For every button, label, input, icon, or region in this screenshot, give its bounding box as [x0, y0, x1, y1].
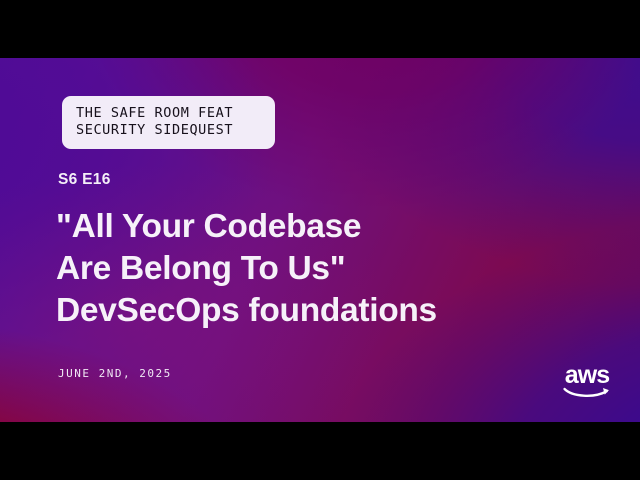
aws-wordmark: aws — [561, 364, 613, 387]
air-date-label: JUNE 2ND, 2025 — [58, 367, 172, 380]
show-title-badge: THE SAFE ROOM FEAT SECURITY SIDEQUEST — [62, 96, 275, 149]
show-badge-line-1: THE SAFE ROOM FEAT — [76, 105, 261, 122]
title-card-slide: THE SAFE ROOM FEAT SECURITY SIDEQUEST S6… — [0, 58, 640, 422]
aws-logo: aws — [561, 364, 613, 398]
episode-title-line-3: DevSecOps foundations — [56, 290, 596, 332]
letterbox-bar-bottom — [0, 422, 640, 480]
slide-content: THE SAFE ROOM FEAT SECURITY SIDEQUEST S6… — [0, 58, 640, 422]
episode-code-label: S6 E16 — [58, 171, 111, 189]
letterbox-bar-top — [0, 0, 640, 58]
episode-title-line-1: "All Your Codebase — [56, 206, 596, 248]
episode-title: "All Your Codebase Are Belong To Us" Dev… — [56, 206, 596, 332]
video-player-frame: THE SAFE ROOM FEAT SECURITY SIDEQUEST S6… — [0, 0, 640, 480]
episode-title-line-2: Are Belong To Us" — [56, 248, 596, 290]
show-badge-line-2: SECURITY SIDEQUEST — [76, 122, 261, 139]
